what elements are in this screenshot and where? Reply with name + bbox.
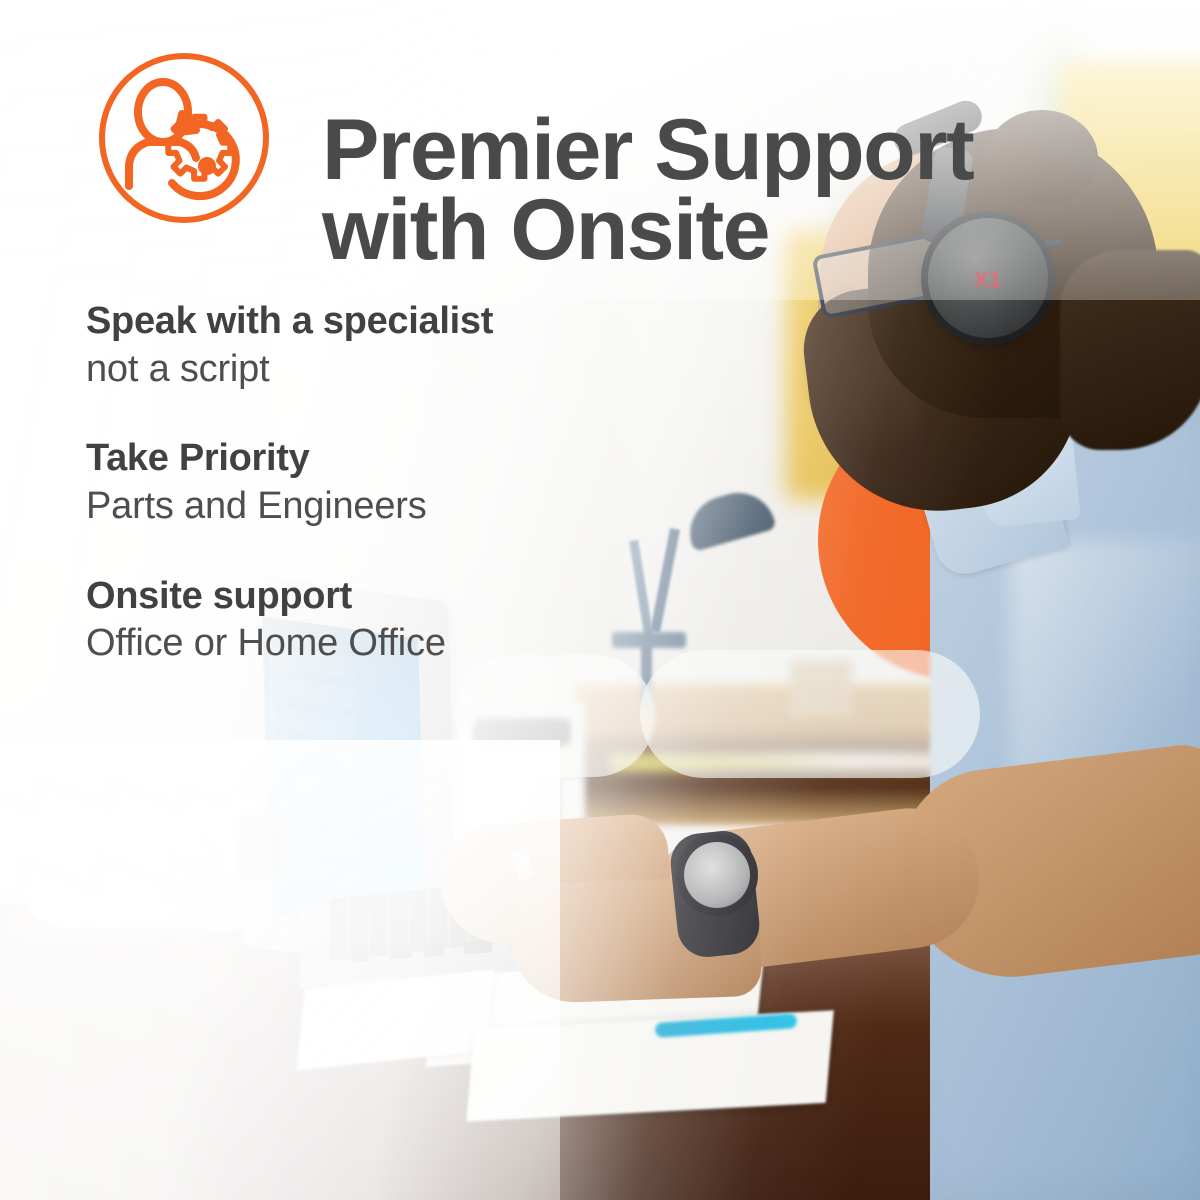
promo-poster: X1	[0, 0, 1200, 1200]
support-person-gear-refresh-icon	[96, 50, 272, 226]
feature-list: Speak with a specialist not a script Tak…	[86, 300, 706, 712]
title-line-2: with Onsite	[322, 190, 1022, 271]
feature-subline: Parts and Engineers	[86, 484, 706, 529]
poster-content: Premier Support with Onsite Speak with a…	[0, 0, 1200, 1200]
feature-subline: Office or Home Office	[86, 621, 706, 666]
feature-headline: Onsite support	[86, 575, 706, 618]
feature-headline: Speak with a specialist	[86, 300, 706, 343]
page-title: Premier Support with Onsite	[322, 110, 1022, 272]
feature-subline: not a script	[86, 347, 706, 392]
feature-item: Onsite support Office or Home Office	[86, 575, 706, 666]
feature-item: Speak with a specialist not a script	[86, 300, 706, 391]
feature-headline: Take Priority	[86, 437, 706, 480]
feature-item: Take Priority Parts and Engineers	[86, 437, 706, 528]
